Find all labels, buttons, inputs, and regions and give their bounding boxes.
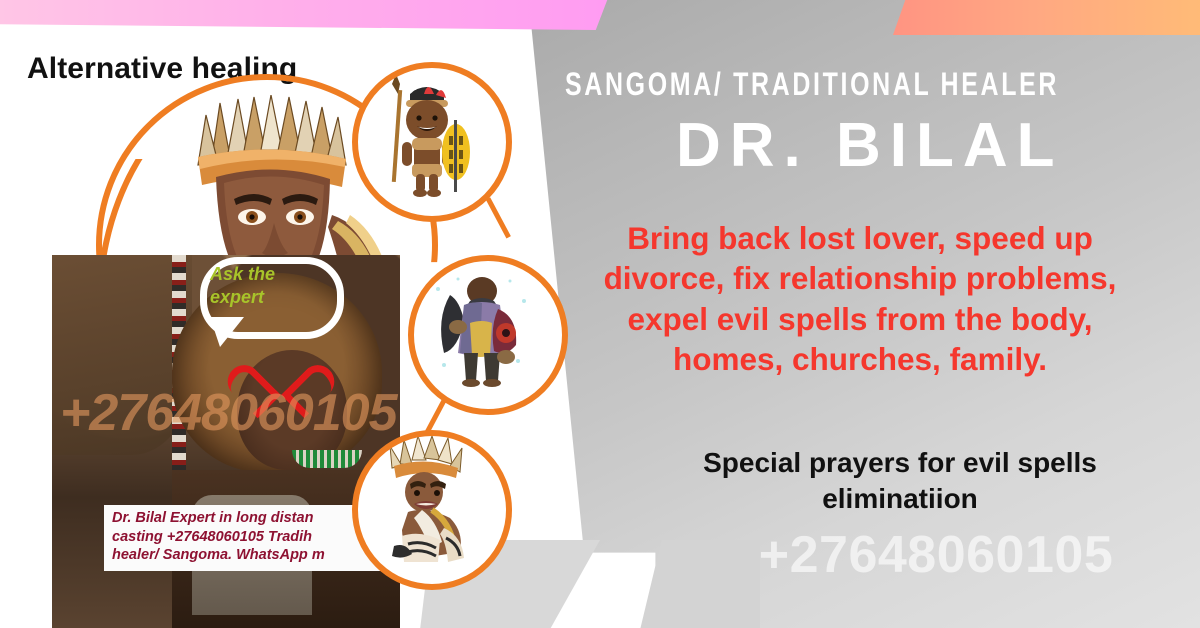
kicker-text: SANGOMA/ TRADITIONAL HEALER — [565, 66, 1049, 103]
prayers-line-2: eliminatiion — [620, 481, 1180, 517]
poster-canvas: Alternative healing — [0, 0, 1200, 628]
prayers-line-1: Special prayers for evil spells — [620, 445, 1180, 481]
services-line-3: expel evil spells from the body, — [540, 299, 1180, 339]
services-line-4: homes, churches, family. — [540, 339, 1180, 379]
photo-beaded-necklace — [292, 450, 362, 468]
speech-bubble-tail — [210, 317, 244, 347]
circle-crouching-warrior — [352, 430, 512, 590]
services-text: Bring back lost lover, speed up divorce,… — [540, 218, 1180, 379]
caption-line-3: healer/ Sangoma. WhatsApp m — [112, 546, 394, 565]
top-orange-band — [893, 0, 1200, 35]
services-line-1: Bring back lost lover, speed up — [540, 218, 1180, 258]
phone-number-watermark: +27648060105 — [676, 525, 1196, 585]
caption-line-2: casting +27648060105 Tradih — [112, 528, 394, 547]
services-line-2: divorce, fix relationship problems, — [540, 258, 1180, 298]
photo-phone-watermark: +27648060105 — [60, 383, 397, 443]
speech-bubble-text: Ask the expert — [210, 263, 330, 308]
prayers-text: Special prayers for evil spells eliminat… — [620, 445, 1180, 518]
healer-name-title: DR. BILAL — [676, 110, 1064, 181]
healer-photo: Ask the expert +27648060105 Dr. Bilal Ex… — [52, 255, 400, 628]
circle-zulu-warrior-cartoon — [352, 62, 512, 222]
